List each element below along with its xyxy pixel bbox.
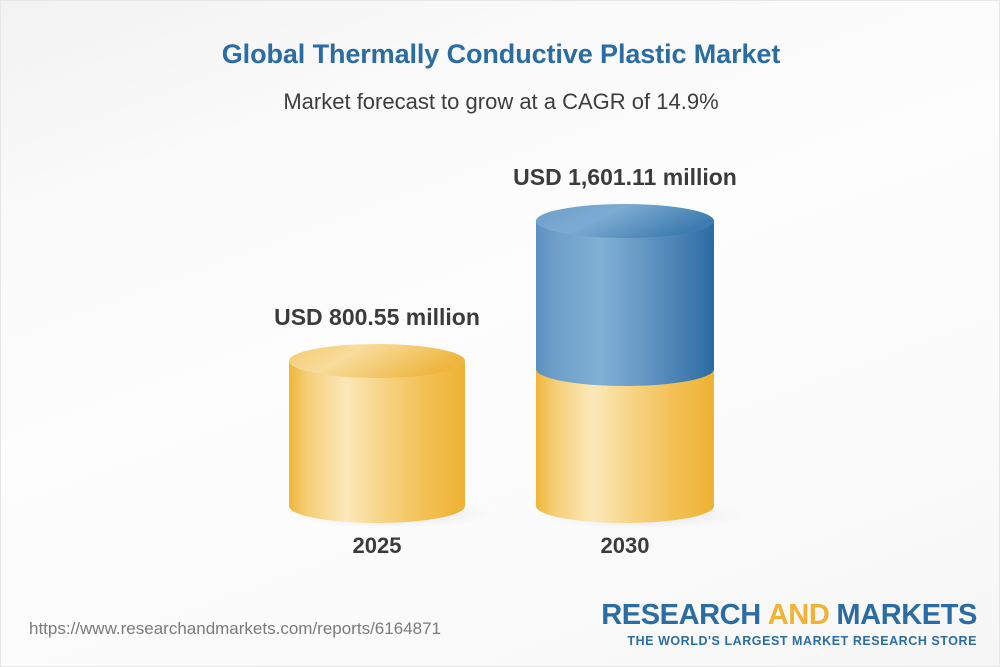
category-label-2025: 2025 (287, 533, 467, 559)
research-and-markets-logo[interactable]: RESEARCHANDMARKETS THE WORLD'S LARGEST M… (601, 601, 977, 648)
data-label-2030: USD 1,601.11 million (485, 164, 765, 191)
bar-2030-upper-segment (536, 221, 714, 386)
logo-tagline: THE WORLD'S LARGEST MARKET RESEARCH STOR… (601, 635, 977, 648)
bar-2025[interactable] (289, 344, 465, 523)
bar-2030[interactable] (536, 204, 714, 523)
bar-2025-body (289, 361, 465, 523)
infographic-card: Global Thermally Conductive Plastic Mark… (0, 0, 1000, 667)
logo-wordmark: RESEARCHANDMARKETS (601, 601, 977, 630)
chart-plot-area: USD 800.55 million USD 1,601.11 million … (1, 1, 1000, 601)
bar-2030-lower-segment (536, 369, 714, 523)
category-label-2030: 2030 (535, 533, 715, 559)
logo-word-markets: MARKETS (836, 599, 977, 631)
cylinder-bars-svg (1, 1, 1000, 601)
report-url[interactable]: https://www.researchandmarkets.com/repor… (29, 619, 441, 639)
logo-word-research: RESEARCH (601, 599, 761, 631)
logo-word-and: AND (768, 599, 830, 631)
data-label-2025: USD 800.55 million (257, 304, 497, 331)
bar-2025-top-ellipse (289, 344, 465, 378)
bar-2030-top-ellipse (536, 204, 714, 238)
